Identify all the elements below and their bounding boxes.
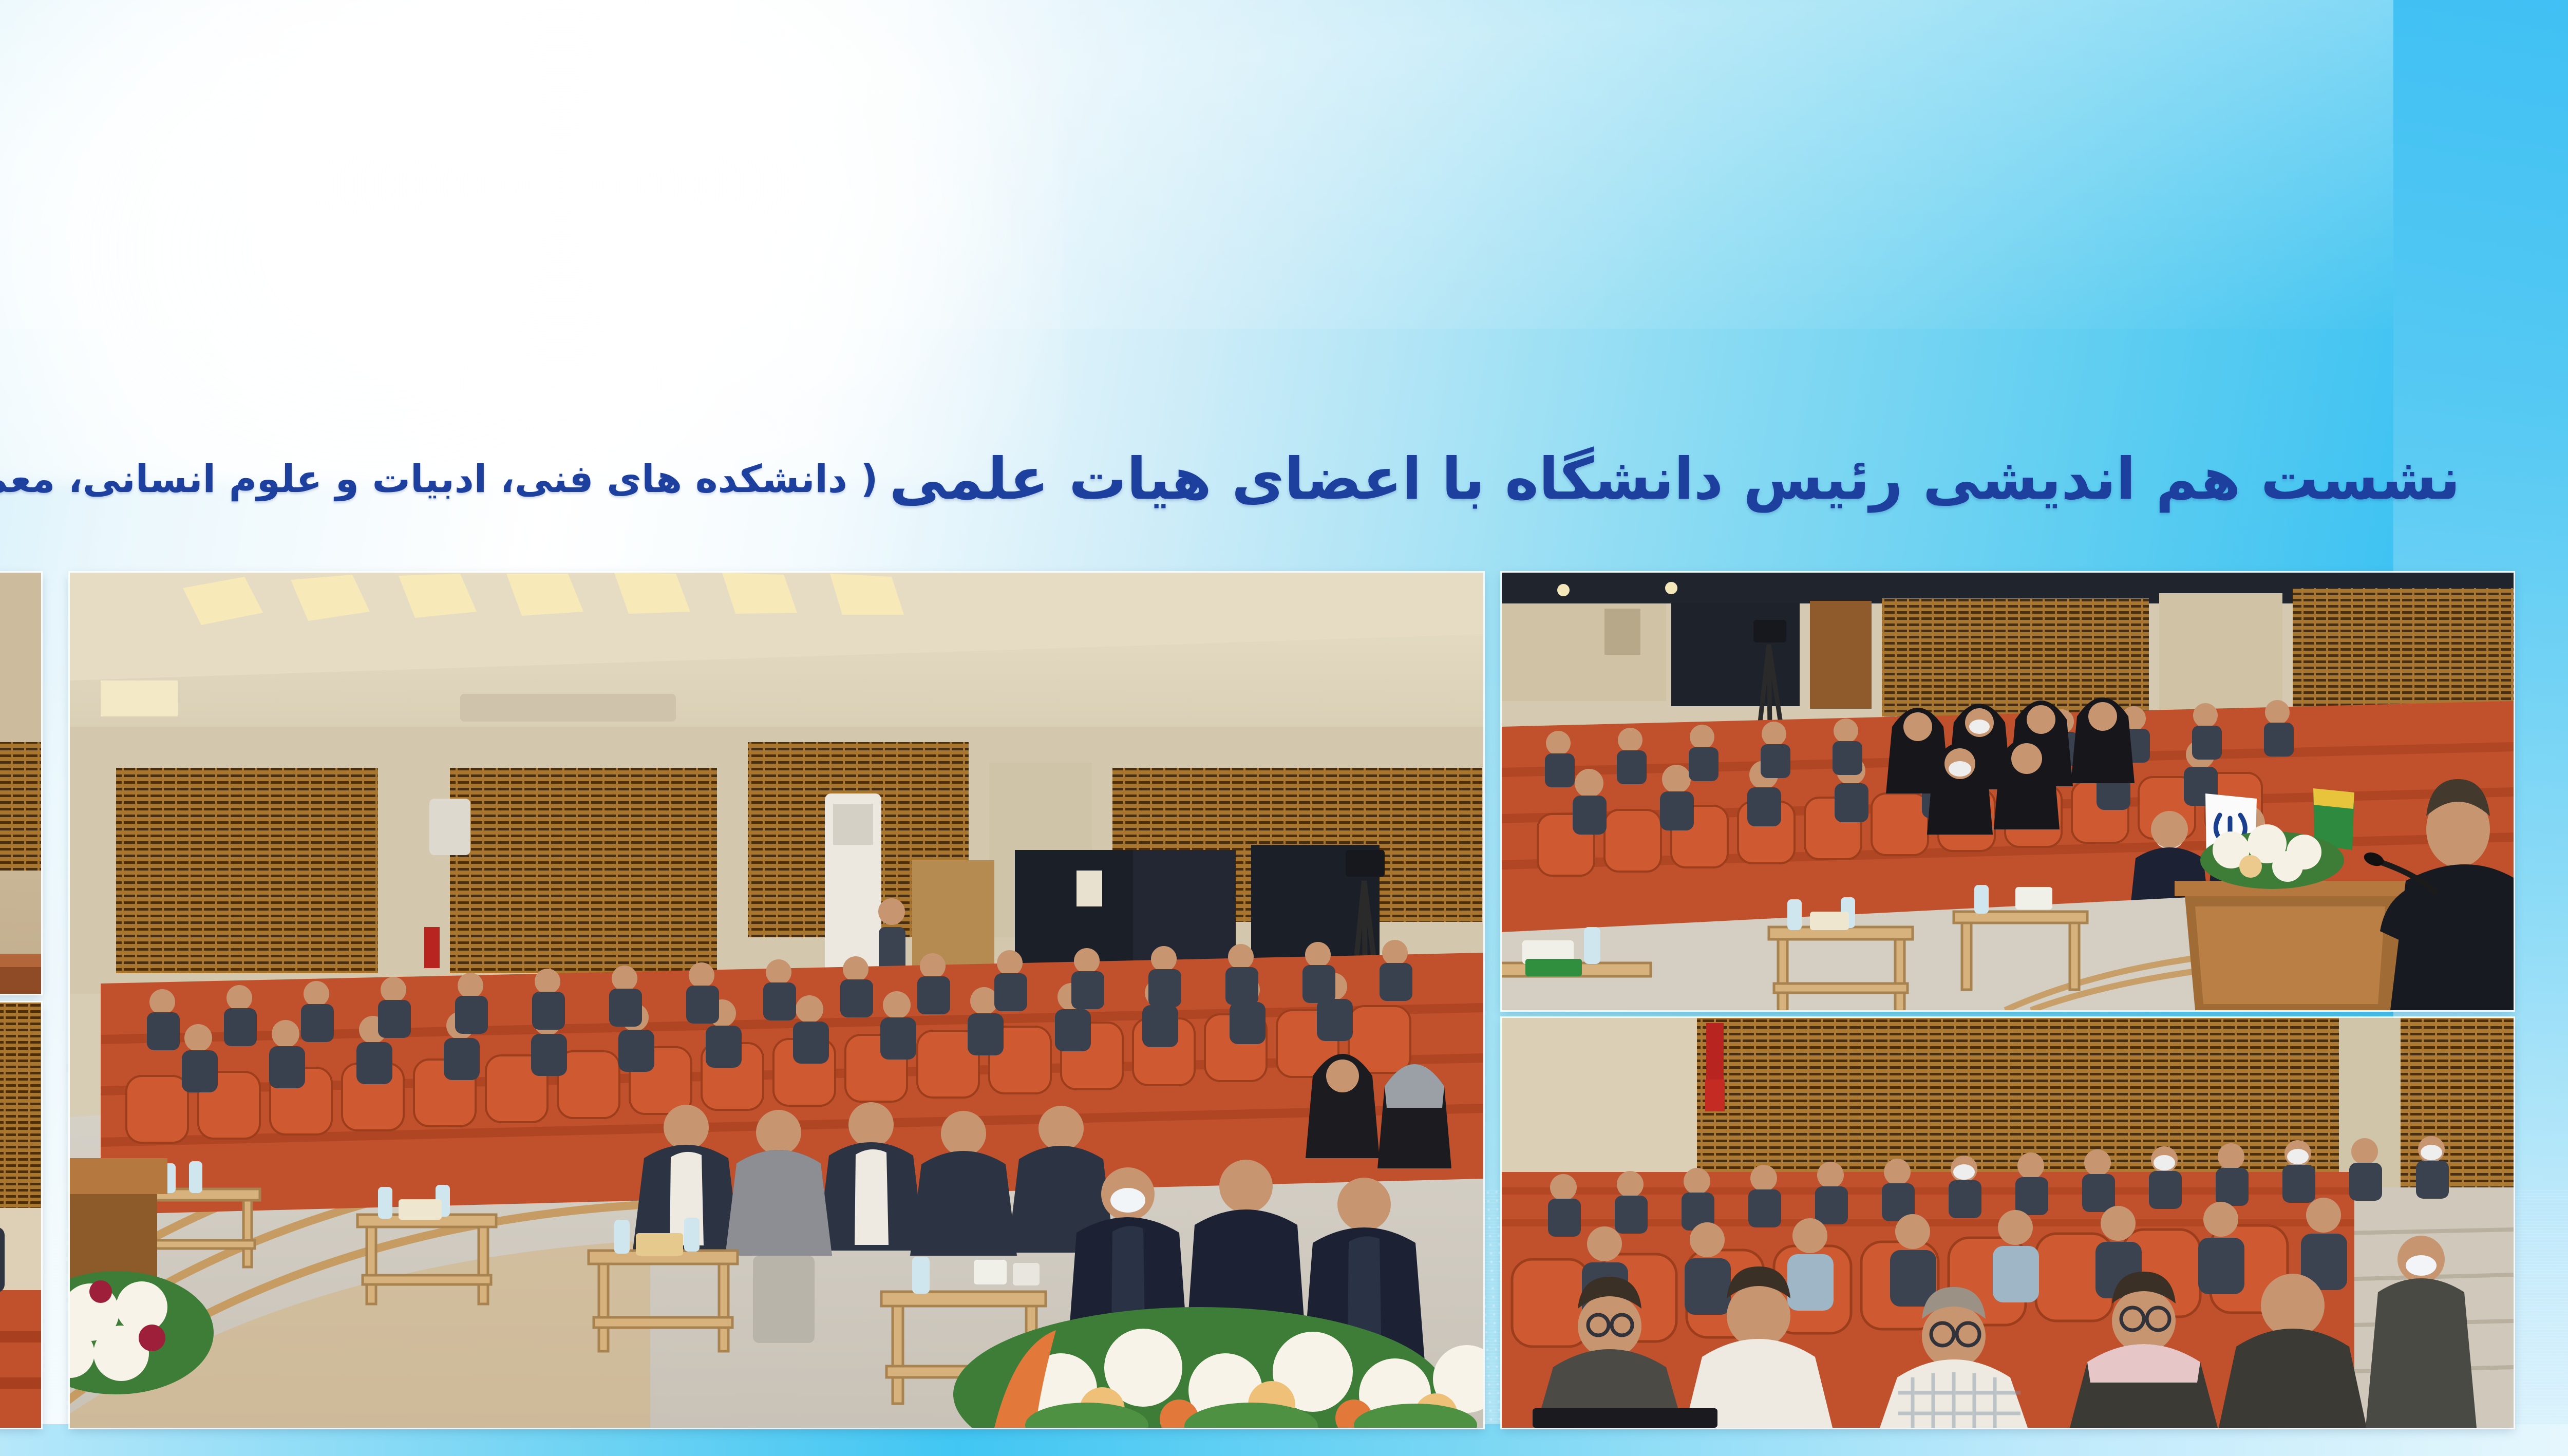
headline-primary-text: نشست هم اندیشی رئیس دانشگاه با اعضای هیا…	[889, 450, 2460, 508]
photo-audience-right	[1502, 1018, 2514, 1428]
background-bottom-strip	[0, 1424, 2568, 1456]
event-banner: دانشگاه گیلان روابط عمومی دانشگاه گیلان …	[0, 0, 2568, 1456]
photo-speaker-at-lectern	[1502, 573, 2514, 1010]
background-white-plume-core	[191, 0, 1013, 462]
event-headline: نشست هم اندیشی رئیس دانشگاه با اعضای هیا…	[0, 430, 2506, 528]
photo-president-at-podium	[0, 573, 41, 994]
headline-secondary-text: ( دانشکده های فنی، ادبیات و علوم انسانی،…	[0, 460, 878, 498]
photo-audience-left	[0, 1003, 41, 1428]
photo-conference-hall-wide	[70, 573, 1483, 1428]
